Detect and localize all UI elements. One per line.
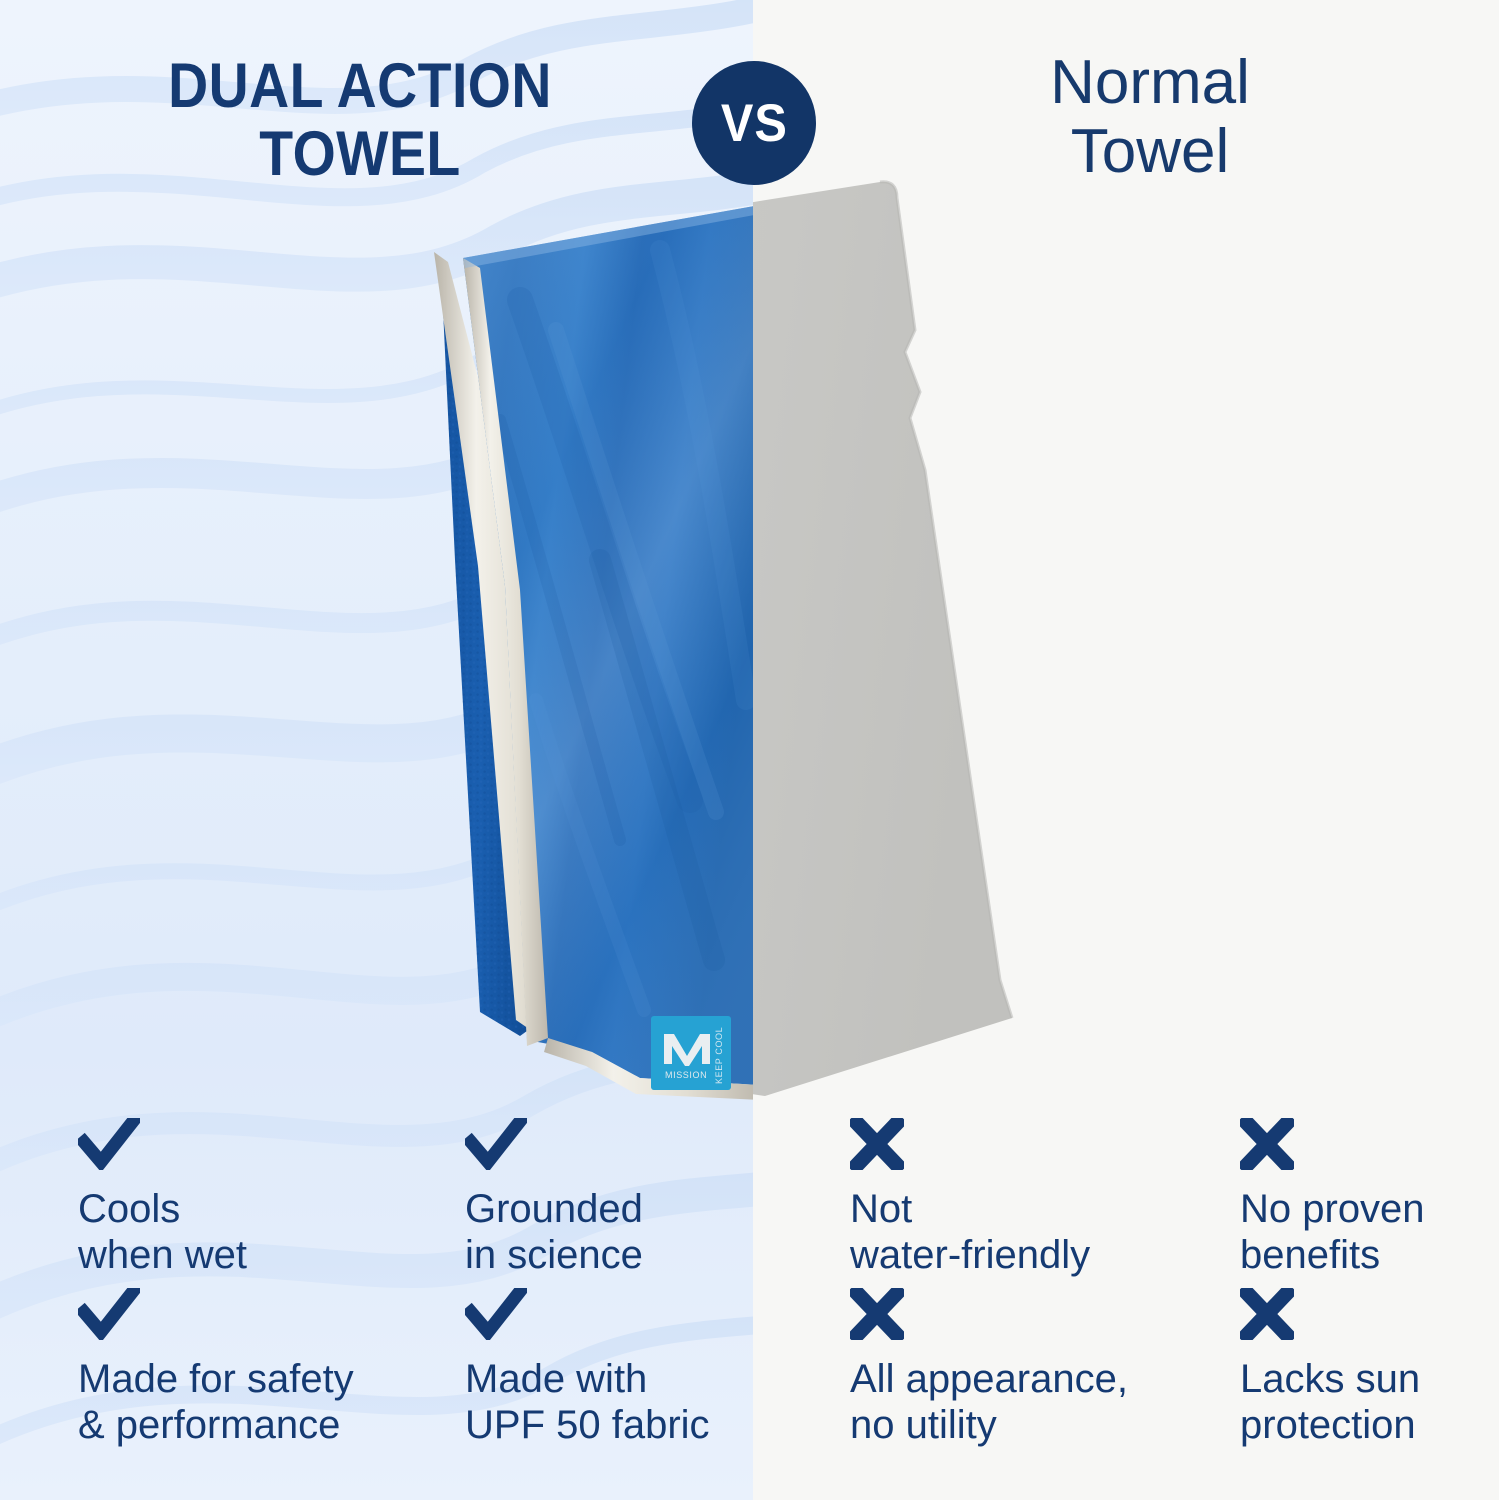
feature-item-pro-1: Cools when wet xyxy=(78,1118,408,1279)
feature-item-pro-2: Grounded in science xyxy=(465,1118,795,1279)
feature-item-pro-3: Made for safety & performance xyxy=(78,1288,408,1449)
feature-item-con-4: Lacks sun protection xyxy=(1240,1288,1499,1449)
feature-label: All appearance, no utility xyxy=(850,1357,1128,1447)
comparison-infographic: MISSION KEEP COOL DUAL ACTION TOWEL VS N… xyxy=(0,0,1499,1500)
cross-icon xyxy=(1240,1288,1499,1344)
feature-label: Made with UPF 50 fabric xyxy=(465,1357,710,1447)
feature-comparison-grid: Cools when wet Grounded in science Made … xyxy=(0,1118,1499,1478)
feature-label: Grounded in science xyxy=(465,1187,643,1277)
feature-label: Not water-friendly xyxy=(850,1187,1090,1277)
vs-label: VS xyxy=(721,93,788,154)
check-icon xyxy=(78,1118,408,1174)
cross-icon xyxy=(850,1118,1180,1174)
feature-label: No proven benefits xyxy=(1240,1187,1425,1277)
feature-item-con-3: All appearance, no utility xyxy=(850,1288,1180,1449)
cross-icon xyxy=(1240,1118,1499,1174)
check-icon xyxy=(78,1288,408,1344)
feature-label: Made for safety & performance xyxy=(78,1357,354,1447)
feature-item-con-2: No proven benefits xyxy=(1240,1118,1499,1279)
feature-label: Cools when wet xyxy=(78,1187,247,1277)
feature-item-pro-4: Made with UPF 50 fabric xyxy=(465,1288,795,1449)
check-icon xyxy=(465,1118,795,1174)
cross-icon xyxy=(850,1288,1180,1344)
feature-label: Lacks sun protection xyxy=(1240,1357,1420,1447)
vs-badge: VS xyxy=(692,61,816,185)
check-icon xyxy=(465,1288,795,1344)
page-title-normal-towel: Normal Towel xyxy=(840,48,1460,187)
feature-item-con-1: Not water-friendly xyxy=(850,1118,1180,1279)
page-title-dual-action-towel: DUAL ACTION TOWEL xyxy=(96,52,624,188)
